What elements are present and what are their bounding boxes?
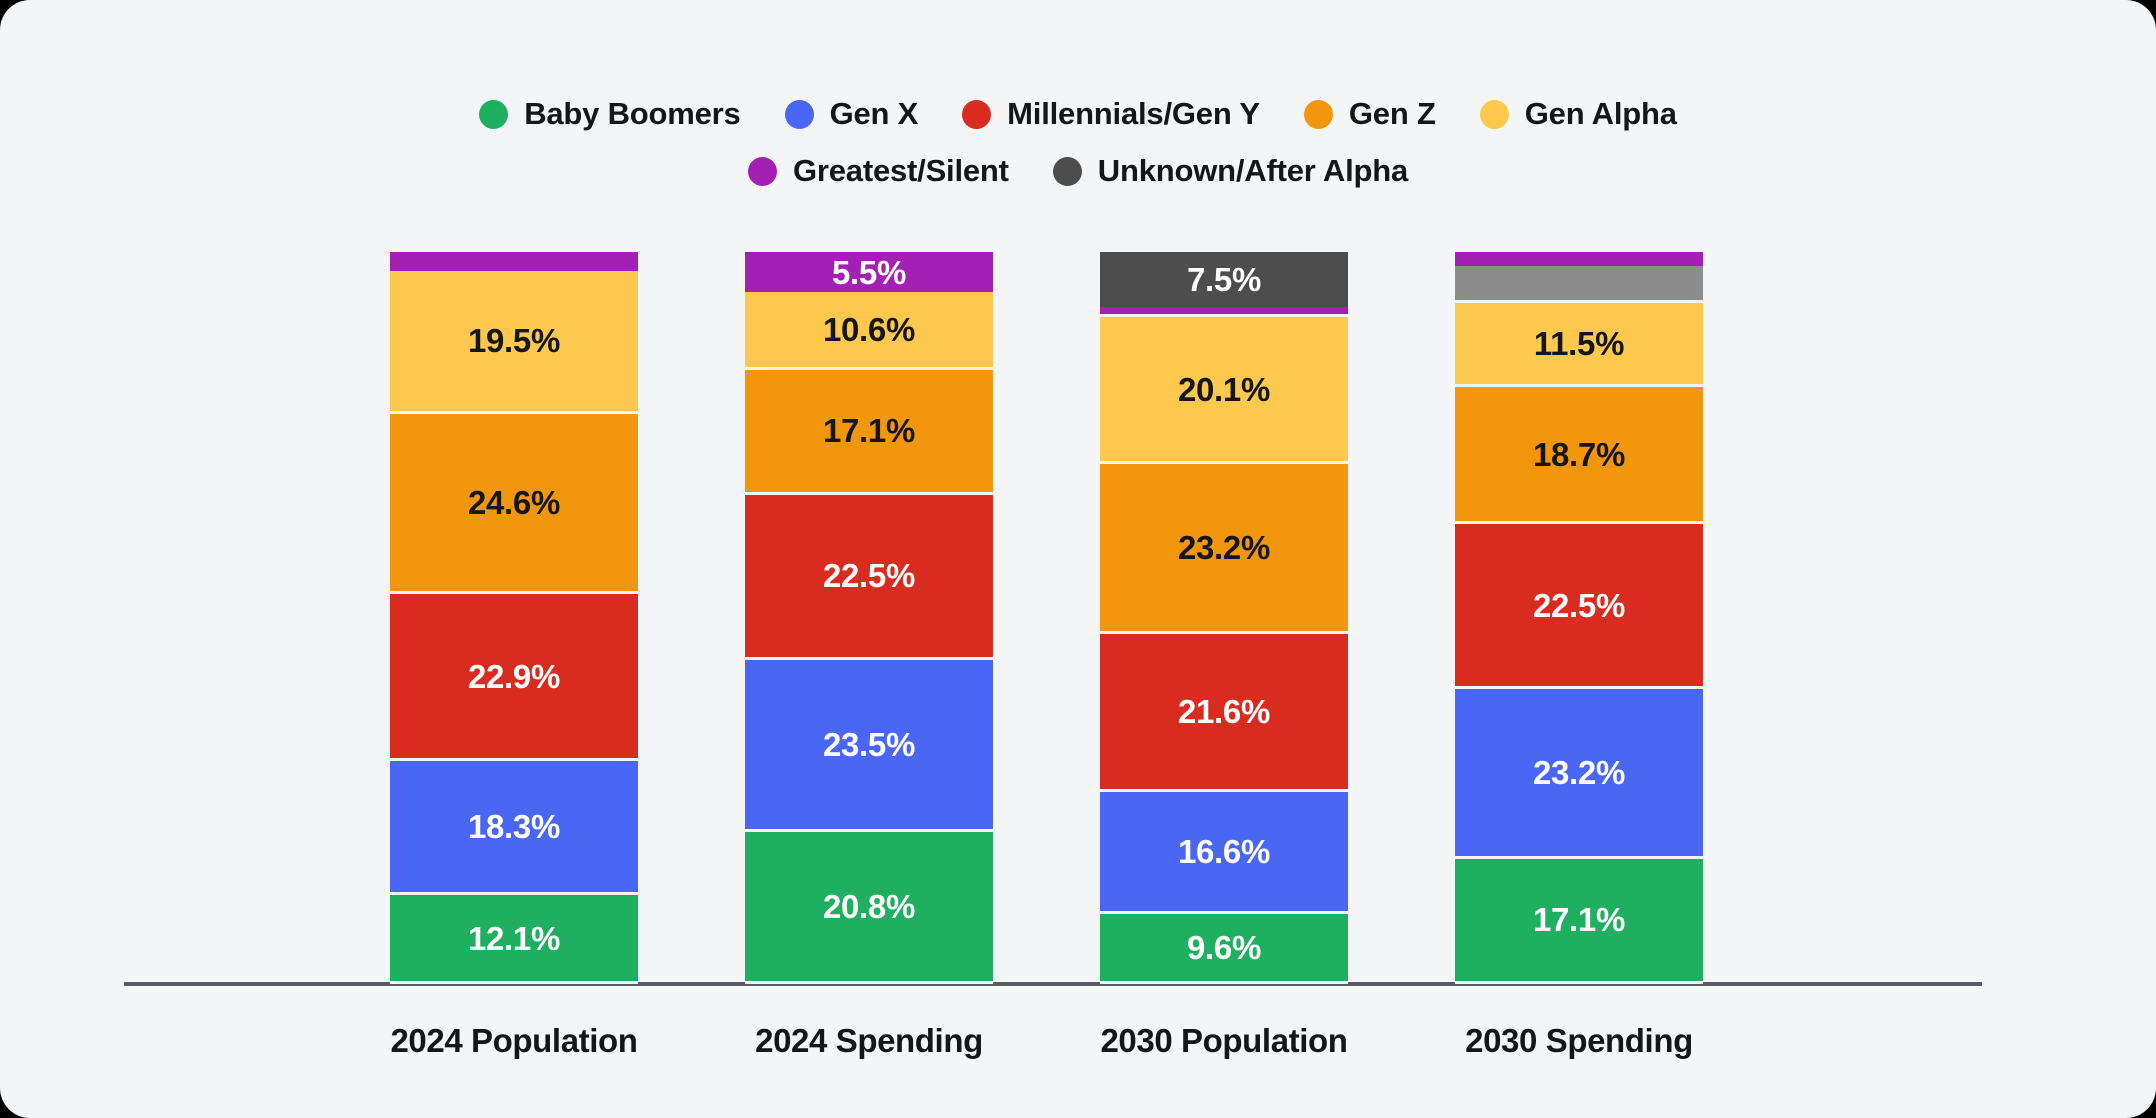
bar-segment[interactable]: 22.9% <box>390 594 638 762</box>
bar-segment[interactable]: 22.5% <box>745 495 993 660</box>
bar-segment-value-label: 17.1% <box>1533 903 1625 936</box>
bar-segment[interactable]: 17.1% <box>1455 859 1703 984</box>
stacked-bar[interactable]: 7.5%20.1%23.2%21.6%16.6%9.6% <box>1100 252 1348 984</box>
bar-segment[interactable] <box>390 252 638 271</box>
bar-segment[interactable]: 5.5% <box>745 252 993 292</box>
bar-segment-value-label: 23.2% <box>1533 756 1625 789</box>
bar-segment-value-label: 18.7% <box>1533 438 1625 471</box>
bar-segment[interactable]: 22.5% <box>1455 524 1703 689</box>
x-axis-category-label: 2030 Spending <box>1434 1022 1724 1060</box>
stacked-bar[interactable]: 5.5%10.6%17.1%22.5%23.5%20.8% <box>745 252 993 984</box>
bar-segment-value-label: 24.6% <box>468 486 560 519</box>
bar-segment[interactable] <box>1100 307 1348 317</box>
bar-segment-value-label: 19.5% <box>468 324 560 357</box>
bar-segment-value-label: 20.8% <box>823 890 915 923</box>
bar-segment[interactable] <box>1455 252 1703 266</box>
bar-segment-value-label: 12.1% <box>468 922 560 955</box>
bar-segment[interactable]: 12.1% <box>390 895 638 984</box>
x-axis-category-label: 2030 Population <box>1079 1022 1369 1060</box>
bar-segment-value-label: 22.5% <box>823 559 915 592</box>
bar-segment-value-label: 20.1% <box>1178 373 1270 406</box>
bar-segment[interactable]: 19.5% <box>390 271 638 414</box>
bar-segment-value-label: 11.5% <box>1534 327 1624 360</box>
bar-segment-value-label: 22.9% <box>468 660 560 693</box>
bar-segment[interactable]: 11.5% <box>1455 303 1703 387</box>
bar-segment[interactable]: 21.6% <box>1100 634 1348 792</box>
bar-segment[interactable]: 10.6% <box>745 292 993 370</box>
bar-segment[interactable]: 9.6% <box>1100 914 1348 984</box>
bar-segment-value-label: 18.3% <box>468 810 560 843</box>
bar-segment-value-label: 21.6% <box>1178 695 1270 728</box>
bar-segment-value-label: 9.6% <box>1187 931 1261 964</box>
bar-segment[interactable]: 7.5% <box>1100 252 1348 307</box>
bar-segment-value-label: 22.5% <box>1533 589 1625 622</box>
chart-card: Baby BoomersGen XMillennials/Gen YGen ZG… <box>0 0 2156 1118</box>
bar-segment[interactable]: 16.6% <box>1100 792 1348 914</box>
x-axis-category-label: 2024 Population <box>369 1022 659 1060</box>
bar-segment[interactable]: 17.1% <box>745 370 993 495</box>
bar-segment[interactable]: 20.1% <box>1100 317 1348 464</box>
bar-segment-value-label: 23.2% <box>1178 531 1270 564</box>
x-axis-category-label: 2024 Spending <box>724 1022 1014 1060</box>
bar-segment[interactable] <box>1455 266 1703 303</box>
bar-segment[interactable]: 23.2% <box>1455 689 1703 859</box>
stacked-bar[interactable]: 19.5%24.6%22.9%18.3%12.1% <box>390 252 638 984</box>
stacked-bar[interactable]: 11.5%18.7%22.5%23.2%17.1% <box>1455 252 1703 984</box>
bar-segment[interactable]: 23.2% <box>1100 464 1348 634</box>
bar-segment[interactable]: 18.7% <box>1455 387 1703 524</box>
bar-segment-value-label: 23.5% <box>823 728 915 761</box>
bar-segment-value-label: 10.6% <box>823 313 915 346</box>
bar-segment-value-label: 16.6% <box>1178 835 1270 868</box>
chart-plot-area: 19.5%24.6%22.9%18.3%12.1%2024 Population… <box>0 0 2156 1118</box>
bar-segment[interactable]: 24.6% <box>390 414 638 594</box>
bar-segment[interactable]: 20.8% <box>745 832 993 984</box>
bar-segment-value-label: 7.5% <box>1187 263 1261 296</box>
bar-segment-value-label: 5.5% <box>832 256 906 289</box>
bar-segment[interactable]: 18.3% <box>390 761 638 895</box>
bar-segment-value-label: 17.1% <box>823 414 915 447</box>
bar-segment[interactable]: 23.5% <box>745 660 993 832</box>
